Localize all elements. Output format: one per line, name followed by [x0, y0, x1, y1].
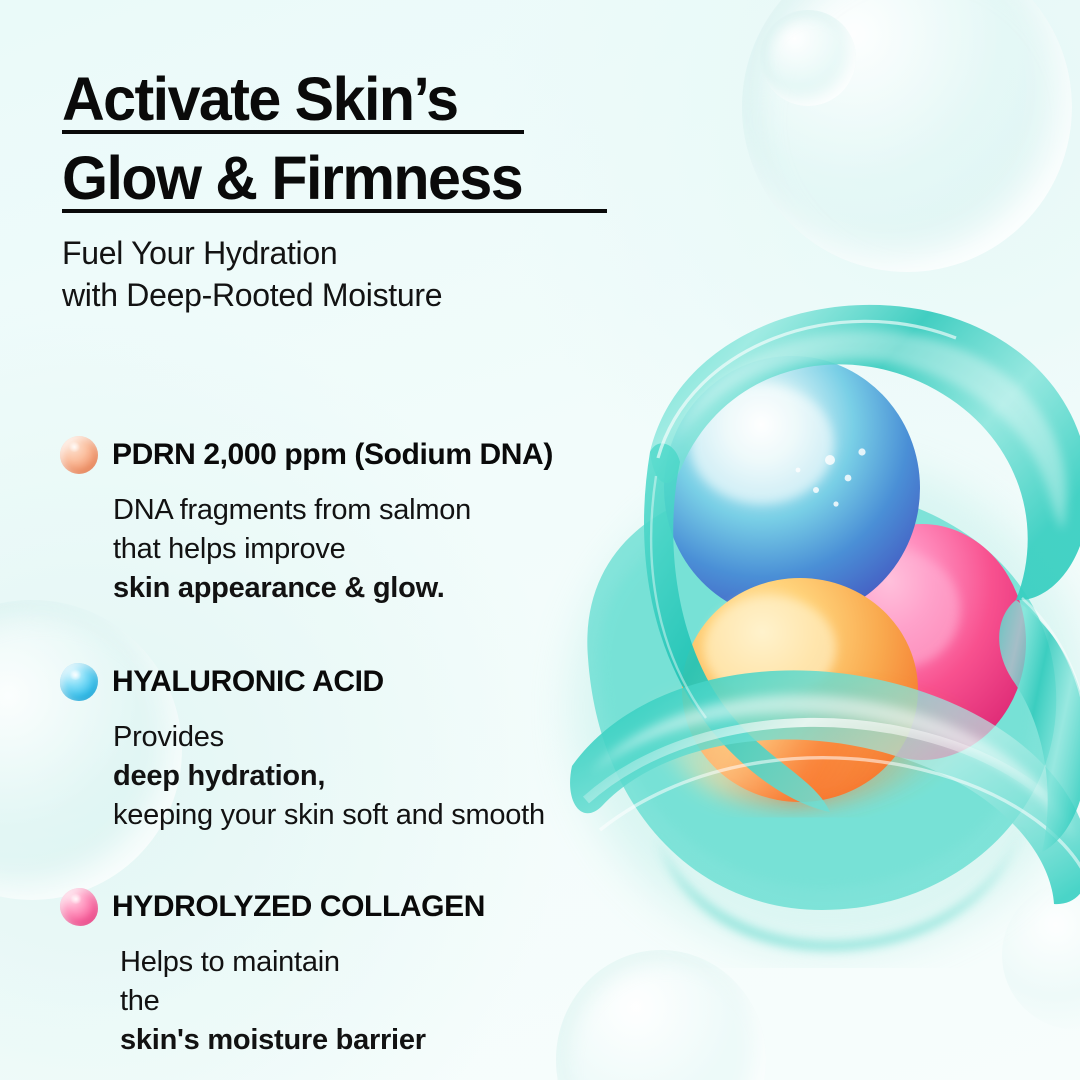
- headline-line-2: Glow & Firmness: [62, 141, 663, 215]
- description-line: keeping your skin soft and smooth: [113, 796, 700, 835]
- text-column: Activate Skin’s Glow & Firmness Fuel You…: [0, 0, 700, 1080]
- background-bubble-top-right-large: [742, 0, 1072, 272]
- ingredient-title: HYALURONIC ACID: [112, 665, 384, 699]
- description-line: the skin's moisture barrier: [120, 982, 700, 1060]
- ingredient-item-hyaluronic-acid: HYALURONIC ACID Provides deep hydration,…: [0, 663, 700, 835]
- ingredient-description: Helps to maintain the skin's moisture ba…: [0, 943, 700, 1060]
- background-bubble-top-right-small: [760, 10, 856, 106]
- description-line-bold: skin appearance & glow.: [113, 569, 700, 608]
- ingredient-description: Provides deep hydration, keeping your sk…: [0, 718, 700, 835]
- subtitle-line-2: with Deep-Rooted Moisture: [62, 274, 662, 316]
- description-line: Helps to maintain: [120, 943, 700, 982]
- pink-blob-icon: [60, 888, 98, 926]
- product-infographic-poster: Activate Skin’s Glow & Firmness Fuel You…: [0, 0, 1080, 1080]
- ingredient-list: PDRN 2,000 ppm (Sodium DNA) DNA fragment…: [0, 436, 700, 1060]
- ingredient-header: HYALURONIC ACID: [0, 663, 700, 701]
- ingredient-item-pdrn: PDRN 2,000 ppm (Sodium DNA) DNA fragment…: [0, 436, 700, 608]
- background-bubble-right-edge: [1002, 880, 1080, 1030]
- subtitle-line-1: Fuel Your Hydration: [62, 232, 662, 274]
- description-line: Provides deep hydration,: [113, 718, 700, 796]
- peach-sphere-icon: [60, 436, 98, 474]
- description-line: that helps improve: [113, 530, 700, 569]
- ingredient-title: HYDROLYZED COLLAGEN: [112, 890, 485, 924]
- description-line: DNA fragments from salmon: [113, 491, 700, 530]
- subtitle: Fuel Your Hydration with Deep-Rooted Moi…: [62, 232, 662, 316]
- ingredient-item-hydrolyzed-collagen: HYDROLYZED COLLAGEN Helps to maintain th…: [0, 888, 700, 1060]
- ingredient-header: PDRN 2,000 ppm (Sodium DNA): [0, 436, 700, 474]
- headline-line-1: Activate Skin’s: [62, 62, 663, 136]
- page-title: Activate Skin’s Glow & Firmness: [62, 62, 682, 220]
- ingredient-header: HYDROLYZED COLLAGEN: [0, 888, 700, 926]
- ingredient-title: PDRN 2,000 ppm (Sodium DNA): [112, 438, 553, 472]
- water-droplet-icon: [60, 663, 98, 701]
- ingredient-description: DNA fragments from salmon that helps imp…: [0, 491, 700, 608]
